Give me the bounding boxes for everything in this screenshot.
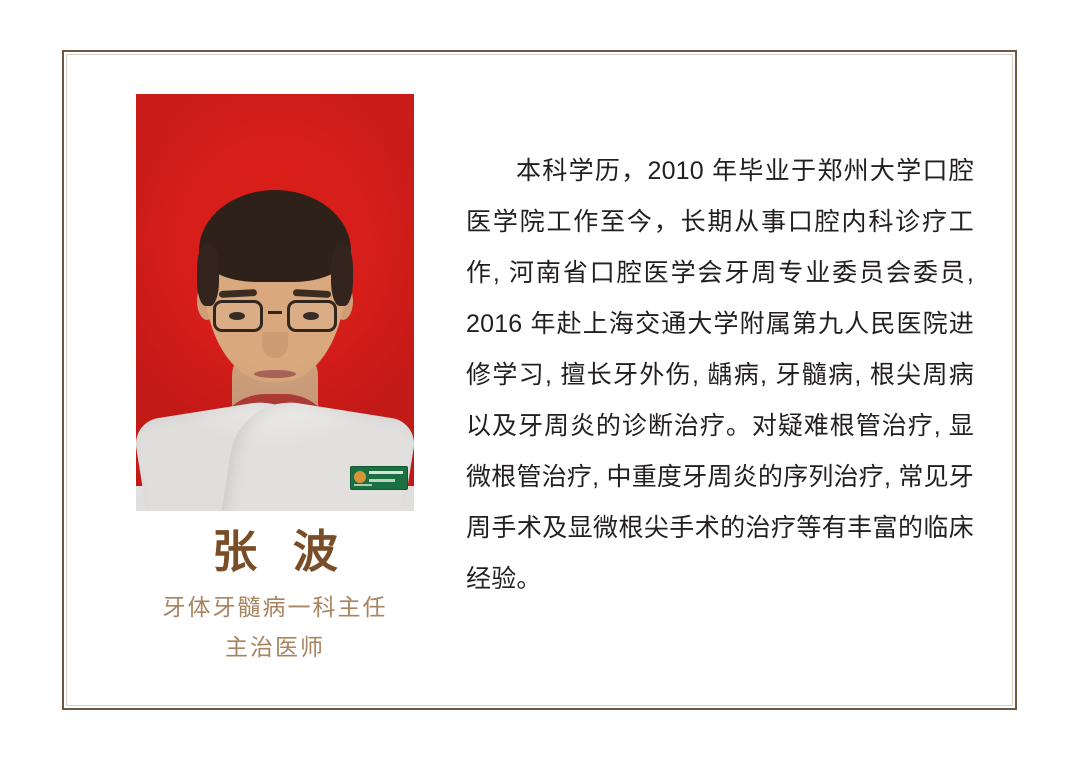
- portrait-glasses-left-lens: [213, 300, 263, 332]
- badge-text-line-1: [369, 471, 403, 474]
- doctor-profile-card: 张 波 牙体牙髓病一科主任 主治医师 本科学历，2010 年毕业于郑州大学口腔医…: [0, 0, 1080, 764]
- doctor-biography: 本科学历，2010 年毕业于郑州大学口腔医学院工作至今，长期从事口腔内科诊疗工作…: [466, 146, 974, 605]
- badge-text-line-3: [354, 484, 372, 486]
- doctor-rank-title: 主治医师: [110, 628, 440, 668]
- doctor-portrait-photo: [136, 94, 414, 511]
- badge-text-line-2: [369, 479, 395, 482]
- doctor-caption: 张 波 牙体牙髓病一科主任 主治医师: [110, 526, 440, 667]
- doctor-name: 张 波: [110, 526, 440, 578]
- portrait-glasses-bridge: [268, 311, 282, 314]
- doctor-department-title: 牙体牙髓病一科主任: [110, 588, 440, 628]
- portrait-glasses-right-lens: [287, 300, 337, 332]
- badge-logo-icon: [354, 471, 366, 483]
- portrait-hair-side-right: [331, 244, 353, 306]
- portrait-nose: [262, 332, 288, 358]
- biography-text: 本科学历，2010 年毕业于郑州大学口腔医学院工作至今，长期从事口腔内科诊疗工作…: [466, 146, 974, 605]
- portrait-hair-side-left: [197, 244, 219, 306]
- portrait-mouth: [254, 370, 296, 378]
- hospital-id-badge: [350, 466, 408, 490]
